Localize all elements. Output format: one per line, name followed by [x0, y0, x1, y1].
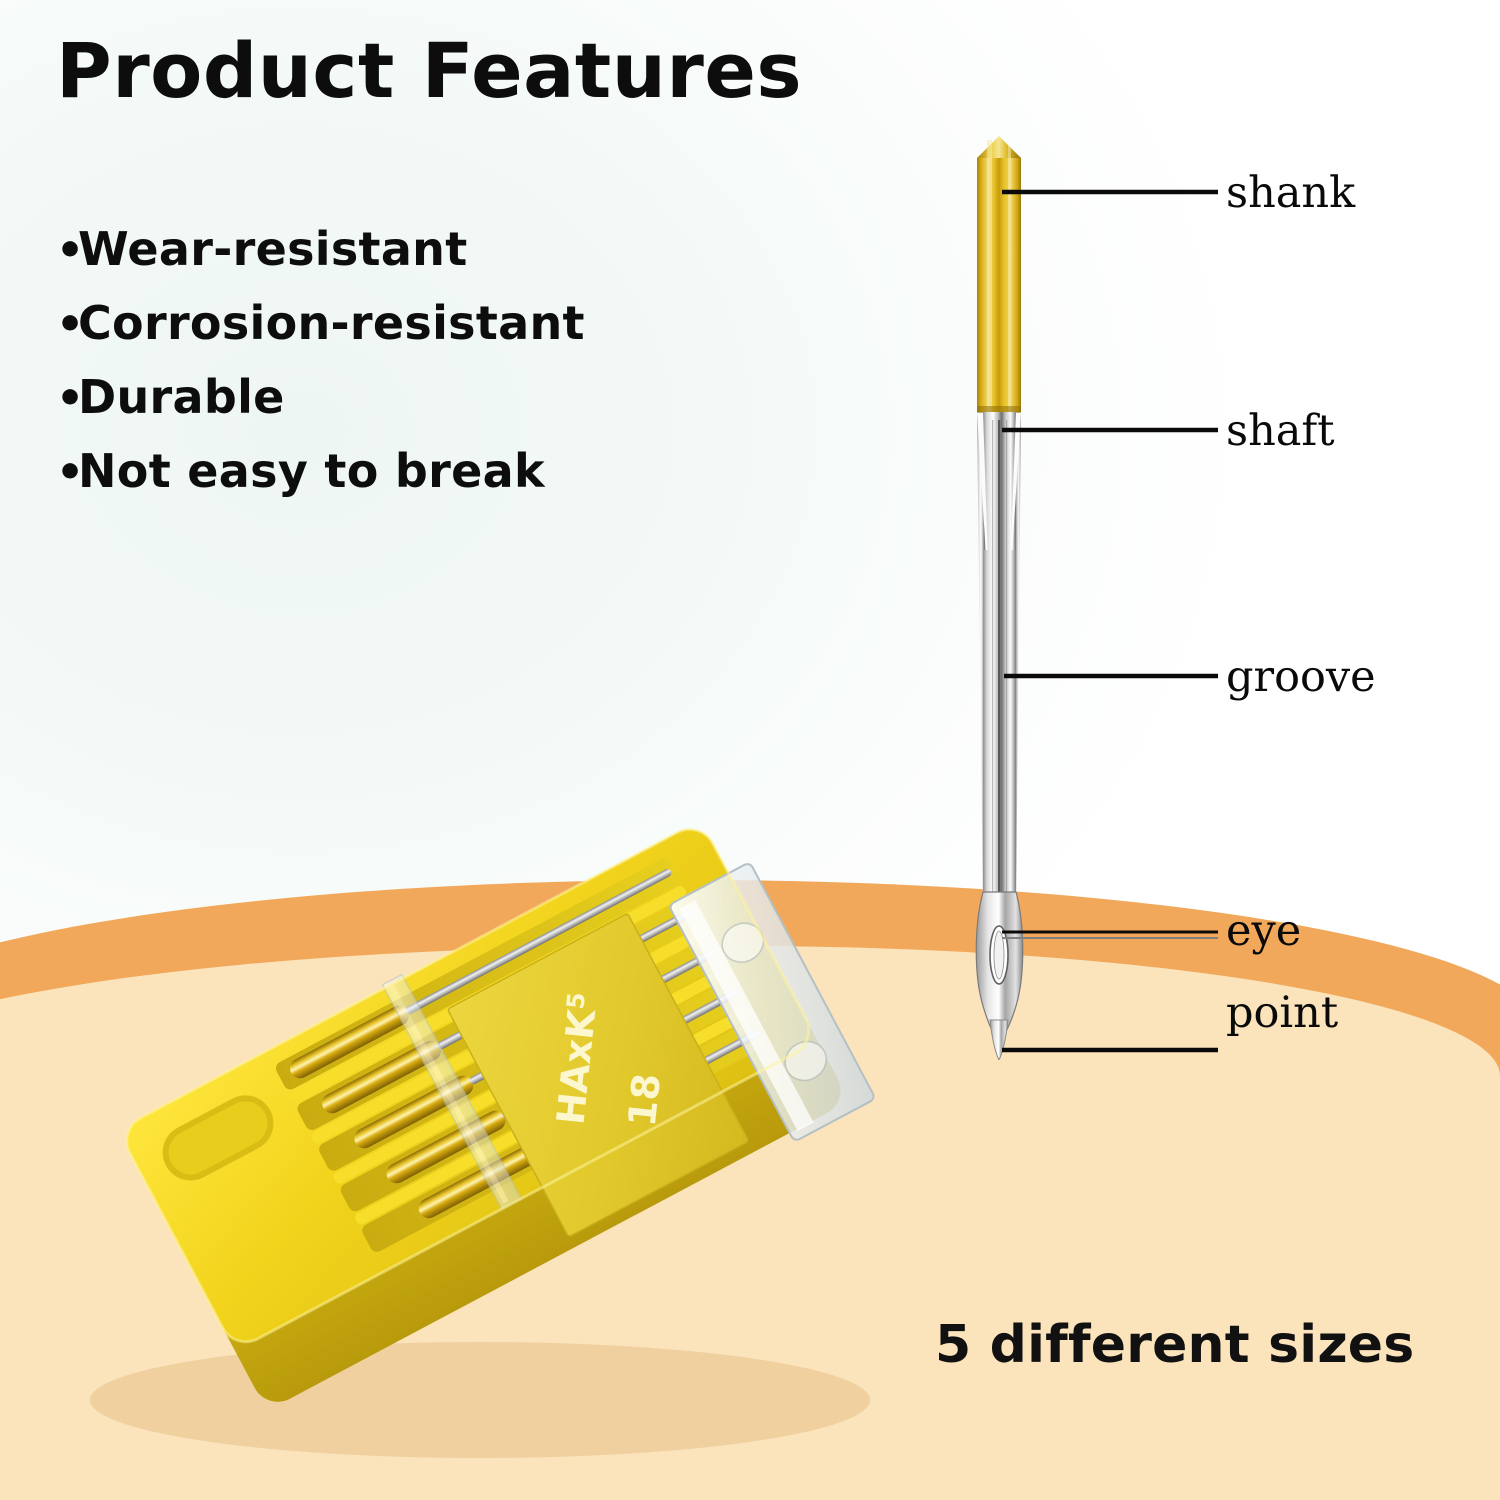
bullet-icon: •: [56, 377, 78, 421]
product-label-size: 18: [620, 1071, 669, 1128]
callout-label-groove: groove: [1226, 656, 1376, 699]
feature-list: • Wear-resistant • Corrosion-resistant •…: [56, 222, 756, 518]
needle-case-illustration-icon: HAxK5 18: [10, 770, 990, 1500]
callout-label-shaft: shaft: [1226, 410, 1335, 453]
list-item: • Wear-resistant: [56, 222, 756, 276]
caption-sizes: 5 different sizes: [935, 1315, 1414, 1375]
needle-illustration-icon: [940, 120, 1480, 1060]
list-item: • Corrosion-resistant: [56, 296, 756, 350]
product-photo-needle-case: HAxK5 18: [10, 770, 990, 1500]
list-item: • Not easy to break: [56, 444, 756, 498]
callout-label-point: point: [1226, 992, 1338, 1035]
feature-label: Corrosion-resistant: [78, 296, 585, 350]
bullet-icon: •: [56, 229, 78, 273]
feature-label: Wear-resistant: [78, 222, 468, 276]
infographic-canvas: Product Features • Wear-resistant • Corr…: [0, 0, 1500, 1500]
bullet-icon: •: [56, 303, 78, 347]
list-item: • Durable: [56, 370, 756, 424]
callout-label-shank: shank: [1226, 172, 1355, 215]
feature-label: Durable: [78, 370, 285, 424]
feature-label: Not easy to break: [78, 444, 545, 498]
page-title: Product Features: [56, 26, 802, 115]
callout-label-eye: eye: [1226, 910, 1301, 953]
bullet-icon: •: [56, 451, 78, 495]
needle-anatomy-diagram: shank shaft groove eye point: [940, 120, 1480, 1060]
